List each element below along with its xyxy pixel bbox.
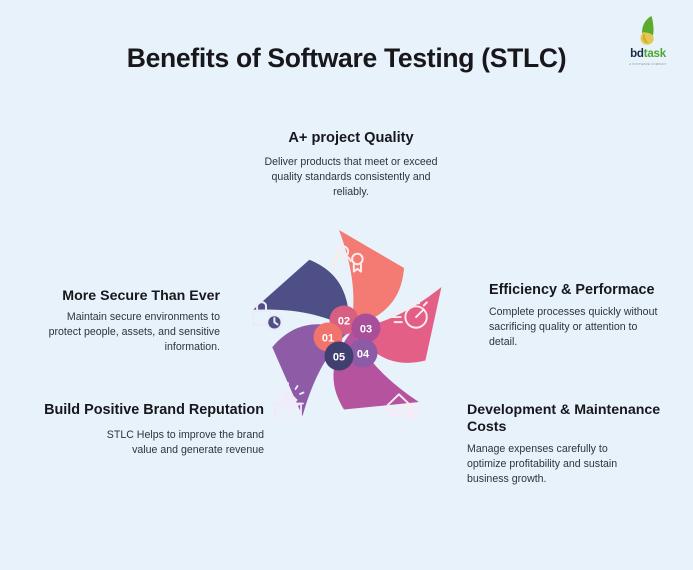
- block-efficiency: Efficiency & Performace Complete process…: [489, 282, 689, 350]
- block-secure-body: Maintain secure environments to protect …: [8, 310, 220, 355]
- block-cost: Development & Maintenance Costs Manage e…: [467, 402, 667, 487]
- badge-01-label: 01: [322, 333, 334, 345]
- logo-word-bd: bd: [630, 48, 644, 60]
- bdtask-logo: bdtask A SOFTWARE COMPANY: [617, 14, 679, 66]
- block-brand-heading: Build Positive Brand Reputation: [6, 402, 264, 420]
- block-cost-body: Manage expenses carefully to optimize pr…: [467, 442, 667, 487]
- logo-wordmark: bdtask: [617, 49, 679, 61]
- badge-05[interactable]: 05: [325, 342, 354, 371]
- leaf-drop-icon: [631, 14, 665, 48]
- block-brand-body: STLC Helps to improve the brand value an…: [6, 428, 264, 460]
- logo-word-task: task: [644, 48, 666, 60]
- block-efficiency-heading: Efficiency & Performace: [489, 282, 689, 300]
- block-quality-body: Deliver products that meet or exceed qua…: [218, 155, 484, 200]
- page-title: Benefits of Software Testing (STLC): [0, 44, 693, 73]
- badge-04-label: 04: [357, 349, 370, 361]
- badge-05-label: 05: [333, 352, 345, 364]
- badge-02-label: 02: [338, 316, 350, 328]
- block-secure: More Secure Than Ever Maintain secure en…: [8, 288, 220, 355]
- block-cost-heading: Development & Maintenance Costs: [467, 402, 667, 437]
- block-brand: Build Positive Brand Reputation STLC Hel…: [6, 402, 264, 459]
- block-quality-heading: A+ project Quality: [218, 130, 484, 148]
- block-efficiency-body: Complete processes quickly without sacri…: [489, 305, 689, 350]
- block-quality: A+ project Quality Deliver products that…: [218, 130, 484, 200]
- badge-03[interactable]: 03: [352, 314, 381, 343]
- infographic-canvas: Benefits of Software Testing (STLC) bdta…: [0, 0, 693, 570]
- badge-03-label: 03: [360, 324, 372, 336]
- logo-tagline: A SOFTWARE COMPANY: [617, 62, 679, 66]
- block-secure-heading: More Secure Than Ever: [8, 288, 220, 305]
